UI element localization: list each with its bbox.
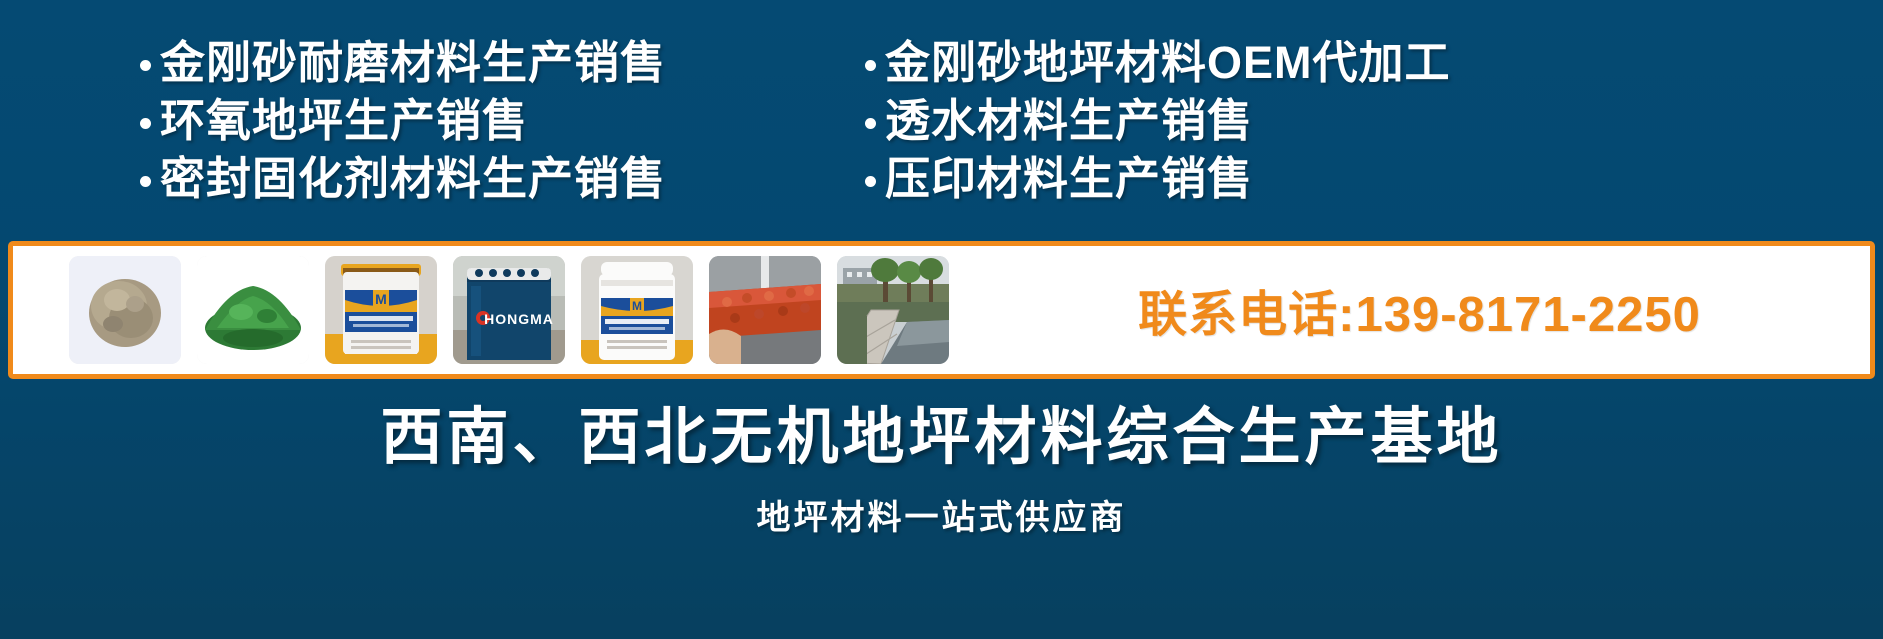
bullet-item-label: 金刚砂地坪材料OEM代加工 <box>885 34 1451 92</box>
bullet-dot-icon <box>865 176 876 187</box>
contact-phone[interactable]: 联系电话:139-8171-2250 <box>949 275 1856 346</box>
bullet-dot-icon <box>140 176 151 187</box>
bullet-item-label: 压印材料生产销售 <box>885 150 1253 208</box>
product-thumbnail-green-abrasive-powder <box>197 256 309 364</box>
bullet-item: 压印材料生产销售 <box>865 150 1625 208</box>
bullet-item: 金刚砂耐磨材料生产销售 <box>140 34 865 92</box>
bullet-column-right: 金刚砂地坪材料OEM代加工 透水材料生产销售 压印材料生产销售 <box>865 0 1625 236</box>
product-thumbnail-gray-abrasive-powder <box>69 256 181 364</box>
bullet-item: 密封固化剂材料生产销售 <box>140 150 865 208</box>
main-headline: 西南、西北无机地坪材料综合生产基地 <box>380 397 1502 479</box>
bullet-item-label: 密封固化剂材料生产销售 <box>160 150 666 208</box>
svg-text:HONGMA: HONGMA <box>484 311 554 327</box>
product-thumbnail-hongma-drum: HONGMA <box>453 256 565 364</box>
bullet-item: 金刚砂地坪材料OEM代加工 <box>865 34 1625 92</box>
product-thumbnail-stamped-walkway <box>837 256 949 364</box>
product-thumbnail-permeable-sample <box>709 256 821 364</box>
bullet-item-label: 透水材料生产销售 <box>885 92 1253 150</box>
bullet-dot-icon <box>865 118 876 129</box>
bullet-item: 环氧地坪生产销售 <box>140 92 865 150</box>
bullet-dot-icon <box>140 60 151 71</box>
bullet-item: 透水材料生产销售 <box>865 92 1625 150</box>
product-thumbnail-list: M <box>27 256 949 364</box>
sub-headline: 地坪材料一站式供应商 <box>757 495 1127 541</box>
bullet-column-left: 金刚砂耐磨材料生产销售 环氧地坪生产销售 密封固化剂材料生产销售 <box>140 0 865 236</box>
advertisement-banner: 金刚砂耐磨材料生产销售 环氧地坪生产销售 密封固化剂材料生产销售 金刚砂地坪材料… <box>0 0 1883 639</box>
bullet-item-label: 环氧地坪生产销售 <box>160 92 528 150</box>
product-strip: M <box>8 241 1875 379</box>
product-thumbnail-epoxy-bucket: M <box>581 256 693 364</box>
bullet-dot-icon <box>140 118 151 129</box>
svg-text:M: M <box>632 299 642 313</box>
product-thumbnail-sealer-bucket: M <box>325 256 437 364</box>
bullet-dot-icon <box>865 60 876 71</box>
service-bullet-lists: 金刚砂耐磨材料生产销售 环氧地坪生产销售 密封固化剂材料生产销售 金刚砂地坪材料… <box>0 0 1883 236</box>
footer-headline-block: 西南、西北无机地坪材料综合生产基地 地坪材料一站式供应商 <box>0 381 1883 639</box>
svg-text:M: M <box>375 291 387 307</box>
bullet-item-label: 金刚砂耐磨材料生产销售 <box>160 34 666 92</box>
